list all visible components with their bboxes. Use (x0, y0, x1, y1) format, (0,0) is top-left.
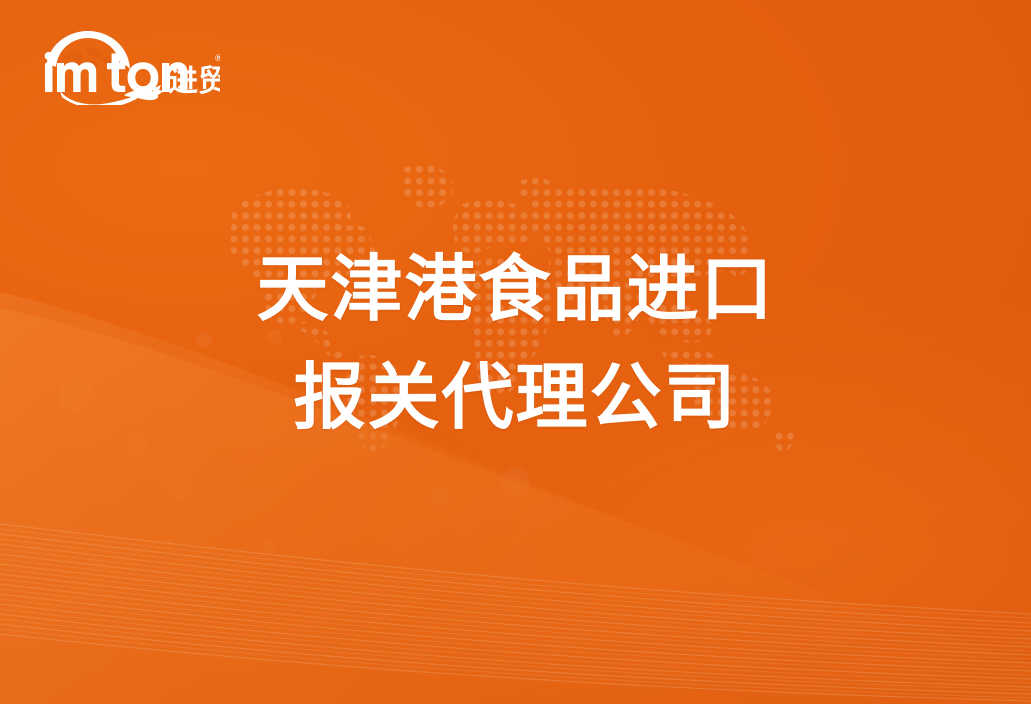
promo-banner: 进贸通 ® 天津港食品进口 报关代理公司 (0, 0, 1031, 704)
title-line-1: 天津港食品进口 (0, 246, 1031, 334)
brand-logo[interactable]: 进贸通 ® (40, 27, 220, 105)
title-line-2: 报关代理公司 (0, 354, 1031, 442)
page-title: 天津港食品进口 报关代理公司 (0, 246, 1031, 442)
logo-chinese-text: 进贸通 (168, 64, 220, 99)
logo-trademark-symbol: ® (214, 54, 220, 64)
